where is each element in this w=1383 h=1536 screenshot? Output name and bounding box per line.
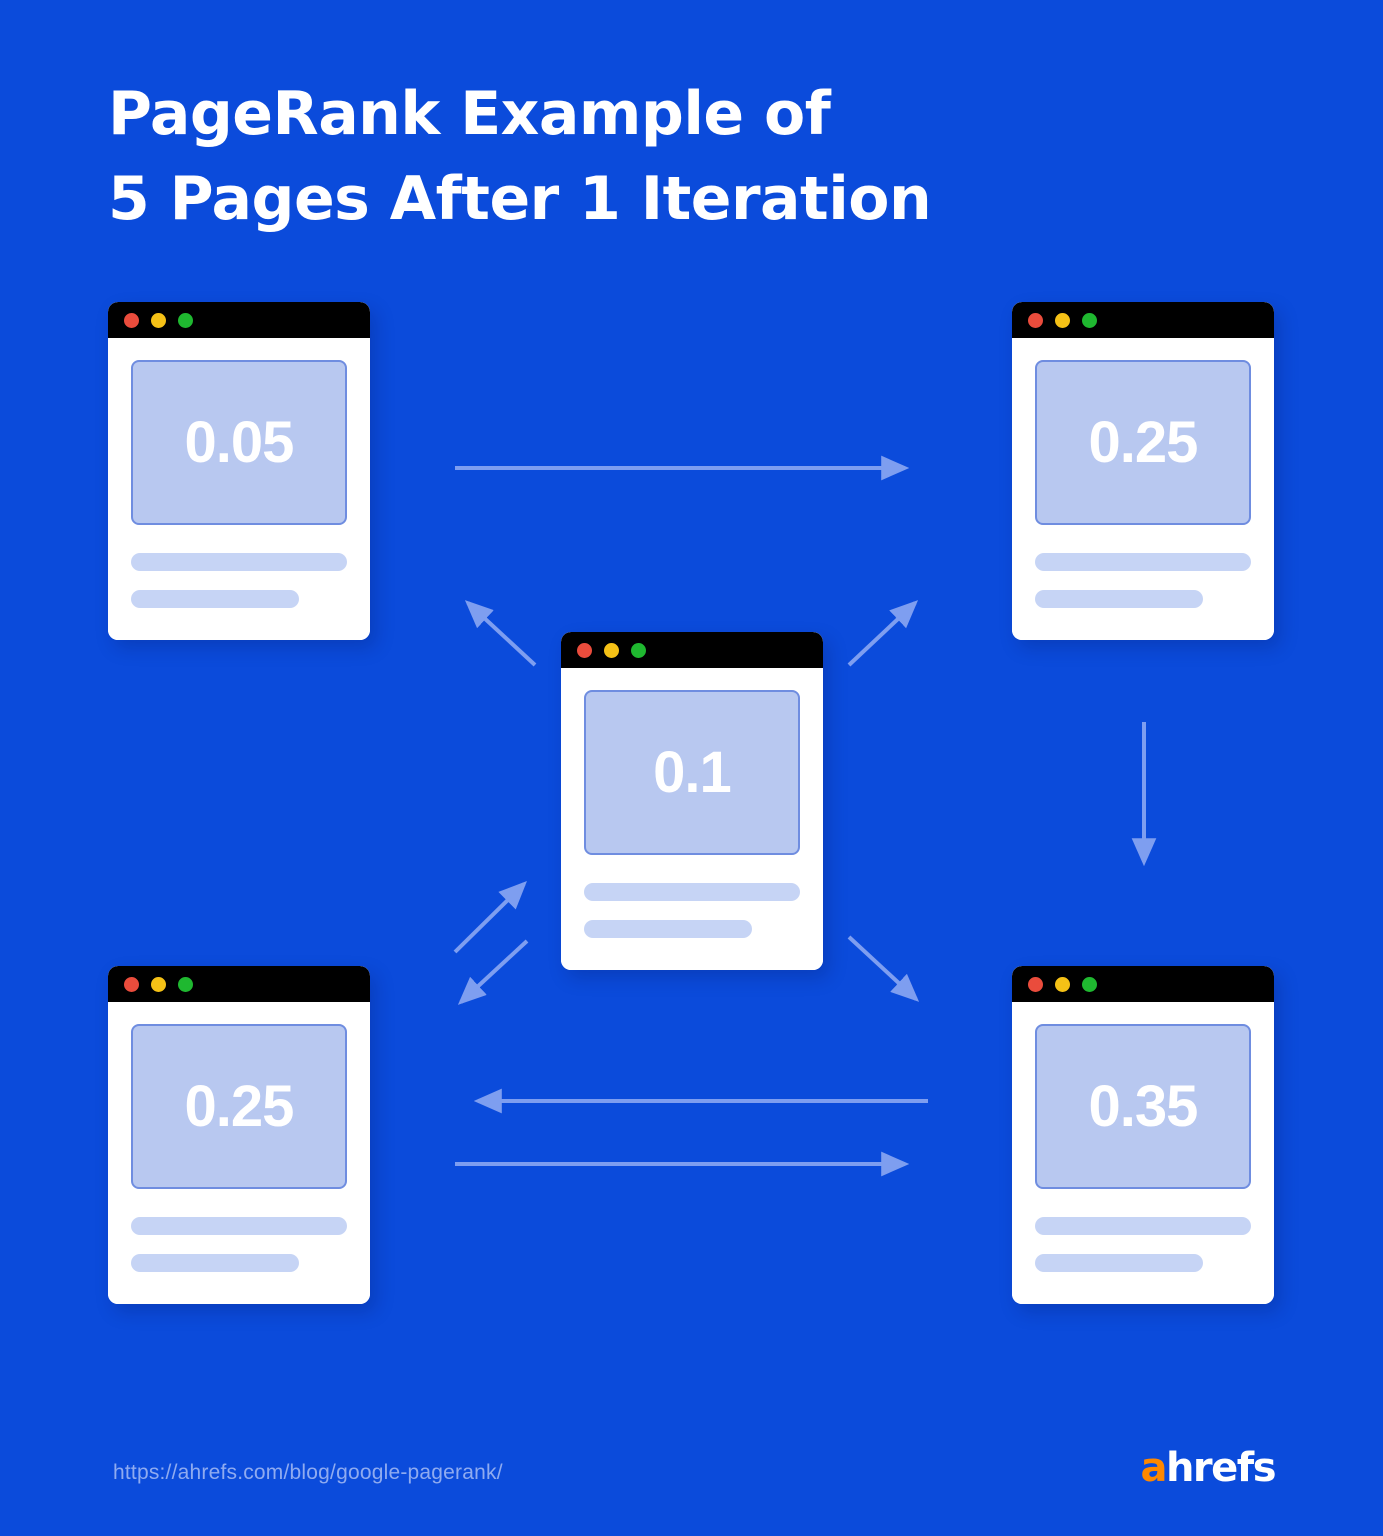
page-title-line-1: PageRank Example of <box>108 72 1108 157</box>
arrow-center-to-topleft <box>468 603 535 665</box>
page-title: PageRank Example of 5 Pages After 1 Iter… <box>108 72 1108 242</box>
pagerank-value: 0.05 <box>185 414 294 472</box>
card-body: 0.25 <box>108 1002 370 1304</box>
close-dot-red-icon[interactable] <box>1028 313 1043 328</box>
page-card-top-right[interactable]: 0.25 <box>1012 302 1274 640</box>
card-body: 0.05 <box>108 338 370 640</box>
minimize-dot-yellow-icon[interactable] <box>151 977 166 992</box>
pagerank-value-box: 0.05 <box>131 360 347 525</box>
page-card-top-left[interactable]: 0.05 <box>108 302 370 640</box>
page-card-center[interactable]: 0.1 <box>561 632 823 970</box>
close-dot-red-icon[interactable] <box>124 977 139 992</box>
placeholder-bar-short <box>584 920 752 938</box>
placeholder-bar-short <box>131 590 299 608</box>
placeholder-bar-long <box>584 883 800 901</box>
card-titlebar <box>1012 966 1274 1002</box>
page-card-bottom-left[interactable]: 0.25 <box>108 966 370 1304</box>
placeholder-bar-short <box>1035 590 1203 608</box>
close-dot-red-icon[interactable] <box>124 313 139 328</box>
card-body: 0.25 <box>1012 338 1274 640</box>
logo-accent-letter: a <box>1140 1445 1166 1491</box>
pagerank-value: 0.25 <box>185 1078 294 1136</box>
minimize-dot-yellow-icon[interactable] <box>1055 977 1070 992</box>
infographic-canvas: PageRank Example of 5 Pages After 1 Iter… <box>0 0 1383 1536</box>
close-dot-red-icon[interactable] <box>577 643 592 658</box>
maximize-dot-green-icon[interactable] <box>178 313 193 328</box>
maximize-dot-green-icon[interactable] <box>178 977 193 992</box>
logo-wordmark: hrefs <box>1166 1445 1275 1491</box>
pagerank-value-box: 0.1 <box>584 690 800 855</box>
close-dot-red-icon[interactable] <box>1028 977 1043 992</box>
maximize-dot-green-icon[interactable] <box>1082 977 1097 992</box>
placeholder-bar-long <box>131 1217 347 1235</box>
pagerank-value-box: 0.25 <box>131 1024 347 1189</box>
card-titlebar <box>1012 302 1274 338</box>
maximize-dot-green-icon[interactable] <box>631 643 646 658</box>
pagerank-value: 0.35 <box>1089 1078 1198 1136</box>
minimize-dot-yellow-icon[interactable] <box>604 643 619 658</box>
placeholder-bar-long <box>131 553 347 571</box>
pagerank-value-box: 0.25 <box>1035 360 1251 525</box>
placeholder-bar-long <box>1035 1217 1251 1235</box>
card-titlebar <box>108 966 370 1002</box>
source-url[interactable]: https://ahrefs.com/blog/google-pagerank/ <box>113 1461 503 1485</box>
placeholder-bar-short <box>1035 1254 1203 1272</box>
card-titlebar <box>108 302 370 338</box>
placeholder-bar-long <box>1035 553 1251 571</box>
minimize-dot-yellow-icon[interactable] <box>151 313 166 328</box>
card-body: 0.1 <box>561 668 823 970</box>
arrow-center-to-bottomleft <box>461 941 527 1002</box>
placeholder-bar-short <box>131 1254 299 1272</box>
maximize-dot-green-icon[interactable] <box>1082 313 1097 328</box>
pagerank-value: 0.25 <box>1089 414 1198 472</box>
pagerank-value-box: 0.35 <box>1035 1024 1251 1189</box>
arrow-center-to-bottomright <box>849 937 916 999</box>
arrow-center-to-topright <box>849 603 915 665</box>
pagerank-value: 0.1 <box>653 744 731 802</box>
card-titlebar <box>561 632 823 668</box>
ahrefs-logo[interactable]: ahrefs <box>1140 1448 1275 1488</box>
card-body: 0.35 <box>1012 1002 1274 1304</box>
page-card-bottom-right[interactable]: 0.35 <box>1012 966 1274 1304</box>
page-title-line-2: 5 Pages After 1 Iteration <box>108 157 1108 242</box>
arrow-bottomleft-to-center <box>455 884 524 952</box>
minimize-dot-yellow-icon[interactable] <box>1055 313 1070 328</box>
